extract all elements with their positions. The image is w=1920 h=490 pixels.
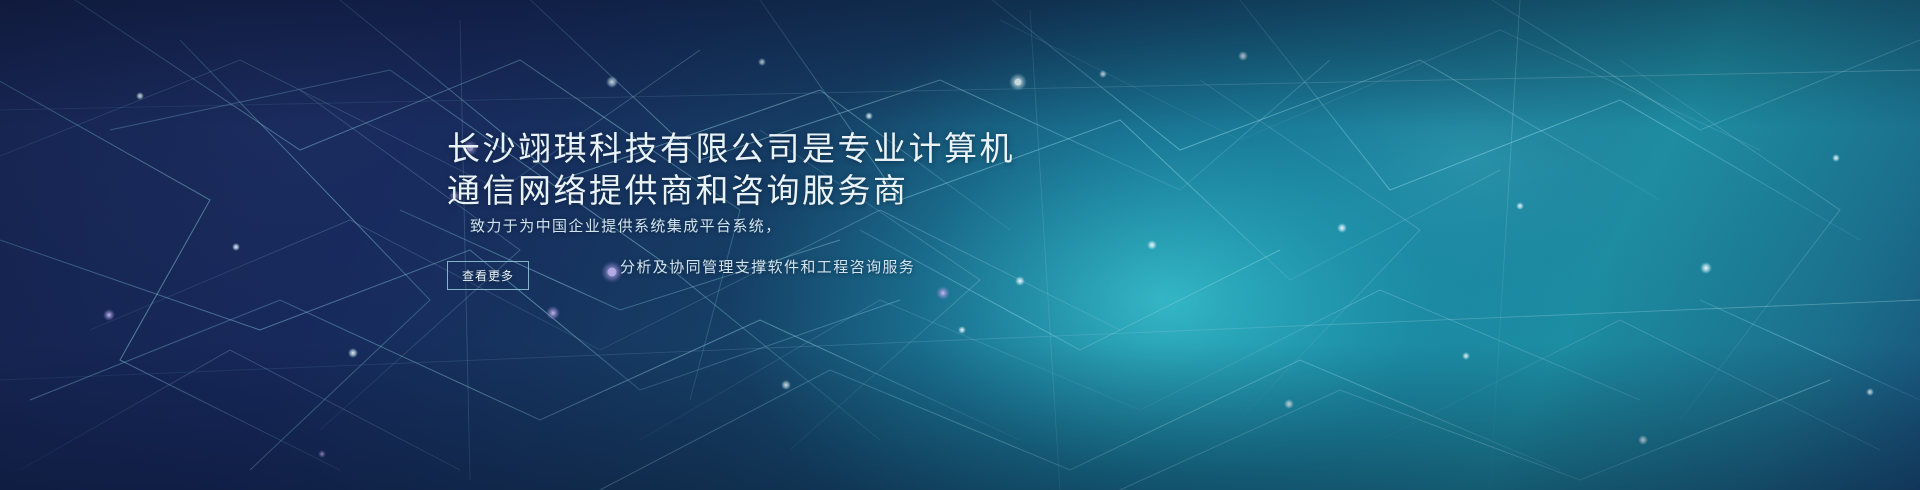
banner-content: 长沙翊琪科技有限公司是专业计算机 通信网络提供商和咨询服务商 致力于为中国企业提… (0, 0, 1920, 490)
headline-line-2: 通信网络提供商和咨询服务商 (447, 170, 967, 212)
view-more-button[interactable]: 查看更多 (447, 261, 529, 290)
banner-headline: 长沙翊琪科技有限公司是专业计算机 通信网络提供商和咨询服务商 (447, 128, 967, 212)
banner-subtext-line-2: 分析及协同管理支撑软件和工程咨询服务 (620, 256, 915, 277)
headline-line-1: 长沙翊琪科技有限公司是专业计算机 (447, 128, 967, 170)
hero-banner: 长沙翊琪科技有限公司是专业计算机 通信网络提供商和咨询服务商 致力于为中国企业提… (0, 0, 1920, 490)
banner-subtext-line-1: 致力于为中国企业提供系统集成平台系统， (470, 215, 782, 236)
